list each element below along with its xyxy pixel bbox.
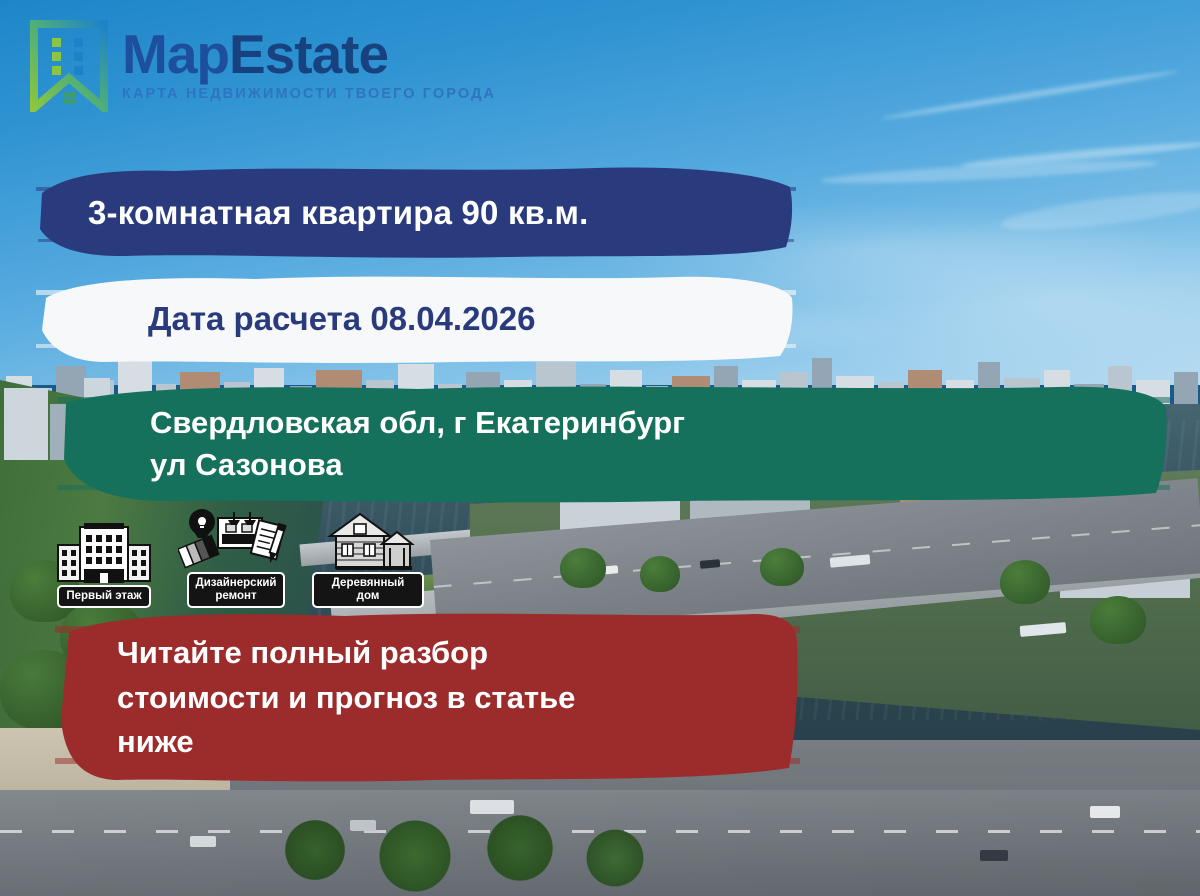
badge-label: Деревянный дом (312, 572, 424, 608)
bookmark-building-icon (30, 20, 108, 112)
date-banner-text: Дата расчета 08.04.2026 (36, 300, 535, 338)
cta-banner-text: Читайте полный разбор стоимости и прогно… (55, 631, 575, 766)
badge-wooden-house[interactable]: Деревянный дом (312, 508, 424, 608)
apartment-banner: 3-комнатная квартира 90 кв.м. (36, 163, 796, 263)
badge-first-floor[interactable]: Первый этаж (48, 521, 160, 608)
brand-logo[interactable]: MapEstate КАРТА НЕДВИЖИМОСТИ ТВОЕГО ГОРО… (30, 20, 496, 112)
address-line-1: Свердловская обл, г Екатеринбург (150, 402, 685, 444)
address-line-2: ул Сазонова (150, 444, 685, 486)
badge-artwork (56, 521, 152, 583)
cta-banner: Читайте полный разбор стоимости и прогно… (55, 608, 800, 788)
brand-name-part2: Estate (229, 23, 388, 85)
brand-name-part1: Map (122, 23, 229, 85)
brand-name: MapEstate (122, 28, 496, 80)
feature-badges: Первый этаж (48, 508, 424, 608)
address-banner: Свердловская обл, г Екатеринбург ул Сазо… (58, 381, 1170, 507)
design-renovation-icon (178, 508, 294, 570)
apartment-building-icon (56, 523, 152, 583)
brand-tagline: КАРТА НЕДВИЖИМОСТИ ТВОЕГО ГОРОДА (122, 86, 496, 102)
badge-label: Дизайнерский ремонт (187, 572, 286, 608)
apartment-banner-text: 3-комнатная квартира 90 кв.м. (36, 194, 589, 232)
cta-line-1: Читайте полный разбор (117, 631, 575, 676)
badge-artwork (320, 508, 416, 570)
cta-line-2: стоимости и прогноз в статье (117, 676, 575, 721)
date-banner: Дата расчета 08.04.2026 (36, 272, 796, 366)
badge-artwork (178, 508, 294, 570)
address-banner-text: Свердловская обл, г Екатеринбург ул Сазо… (58, 402, 685, 486)
cta-line-3: ниже (117, 720, 575, 765)
badge-designer-renovation[interactable]: Дизайнерский ремонт (176, 508, 296, 608)
badge-label: Первый этаж (57, 585, 150, 608)
wooden-house-icon (320, 510, 416, 570)
